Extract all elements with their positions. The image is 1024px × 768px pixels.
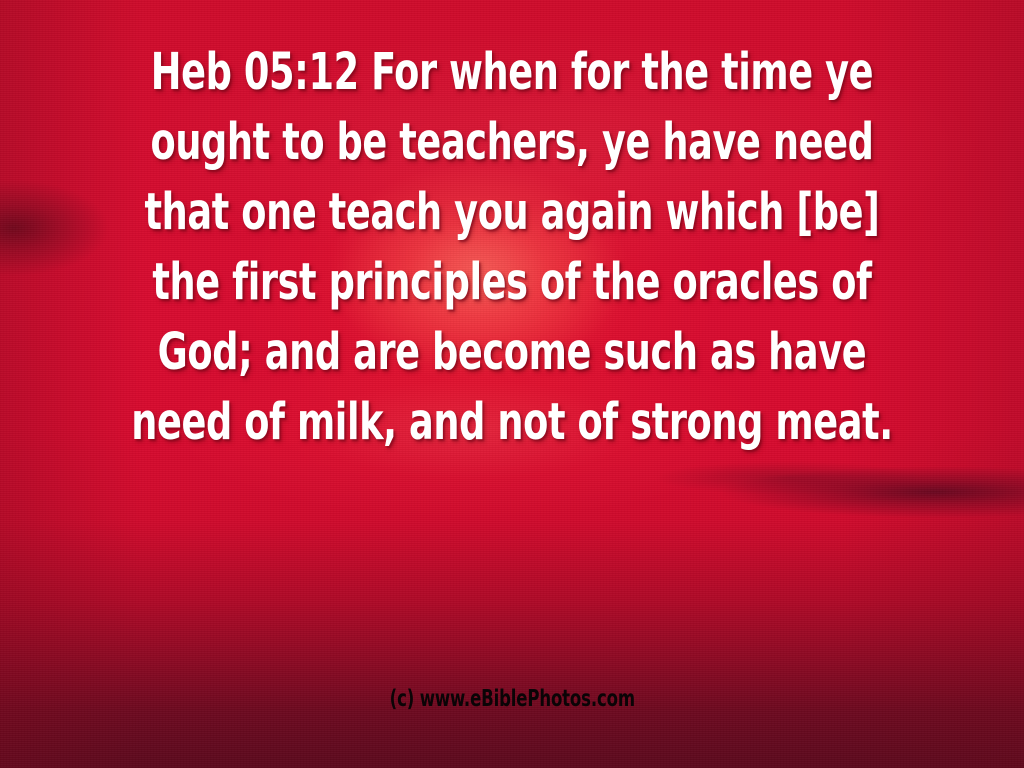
credit-text: (c) www.eBiblePhotos.com: [389, 686, 634, 712]
verse-text-block: Heb 05:12 For when for the time ye ought…: [0, 38, 1024, 458]
verse-image-canvas: Heb 05:12 For when for the time ye ought…: [0, 0, 1024, 768]
verse-line: Heb 05:12 For when for the time ye: [102, 38, 921, 108]
verse-line: ought to be teachers, ye have need: [102, 108, 921, 178]
verse-line: that one teach you again which [be]: [102, 178, 921, 248]
verse-line: need of milk, and not of strong meat.: [102, 388, 921, 458]
verse-line: God; and are become such as have: [102, 318, 921, 388]
credit-line: (c) www.eBiblePhotos.com: [0, 686, 1024, 712]
verse-line: the first principles of the oracles of: [102, 248, 921, 318]
